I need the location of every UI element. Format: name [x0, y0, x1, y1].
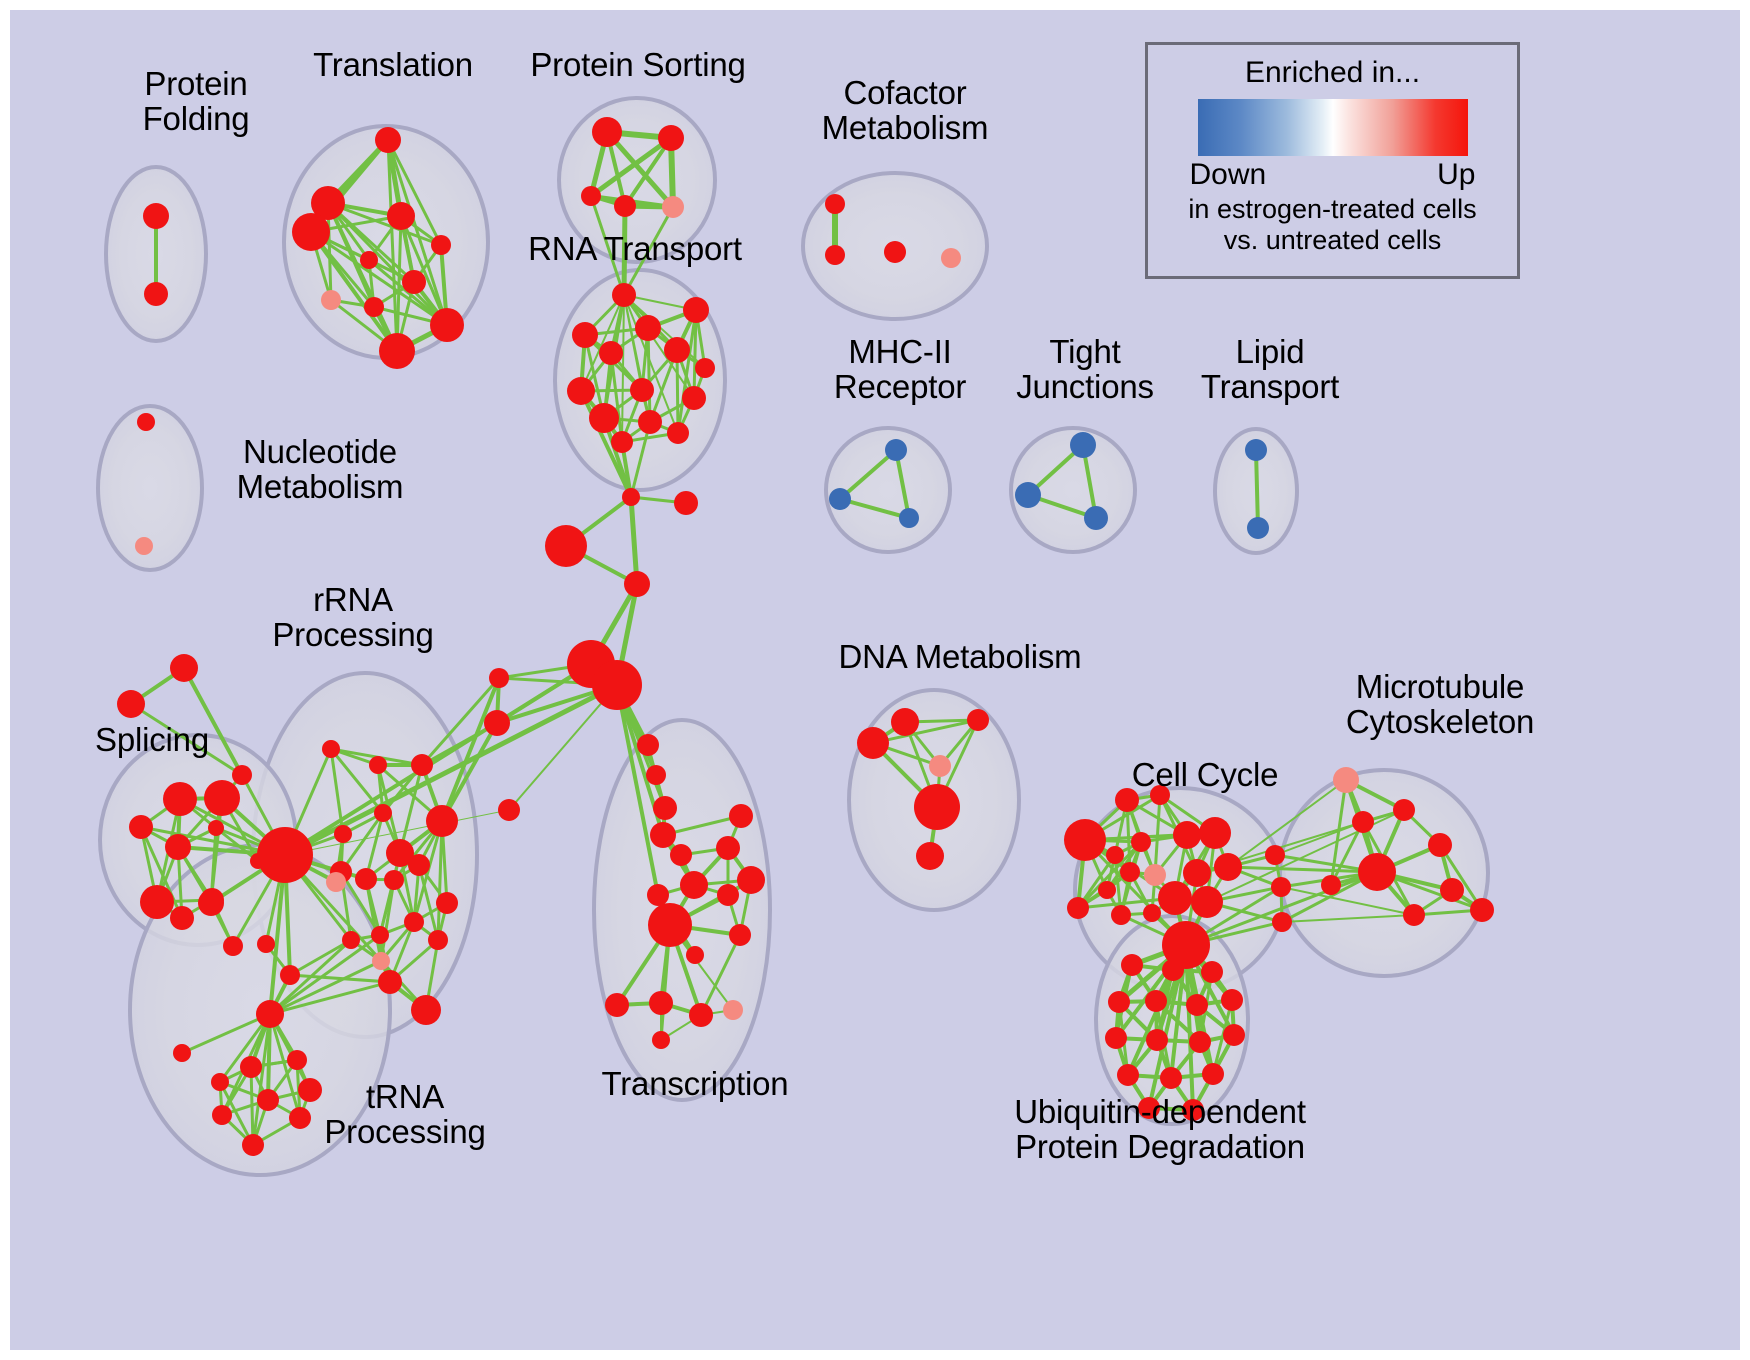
network-node[interactable] [670, 844, 692, 866]
network-node[interactable] [256, 1000, 284, 1028]
cluster-label-cell_cycle: Cell Cycle [1110, 758, 1300, 793]
network-edge [1256, 450, 1258, 528]
network-node[interactable] [658, 125, 684, 151]
network-node[interactable] [624, 571, 650, 597]
network-node[interactable] [967, 709, 989, 731]
network-node[interactable] [1111, 905, 1131, 925]
network-node[interactable] [683, 297, 709, 323]
network-node[interactable] [929, 755, 951, 777]
network-node[interactable] [729, 804, 753, 828]
network-node[interactable] [287, 1050, 307, 1070]
cluster-label-microtubule_cytoskeleton: Microtubule Cytoskeleton [1300, 670, 1580, 740]
network-node[interactable] [1146, 1029, 1168, 1051]
network-node[interactable] [411, 754, 433, 776]
network-node[interactable] [280, 965, 300, 985]
network-node[interactable] [1352, 811, 1374, 833]
network-node[interactable] [292, 213, 330, 251]
network-node[interactable] [581, 186, 601, 206]
network-node[interactable] [1393, 799, 1415, 821]
cluster-label-mhc_ii_receptor: MHC-II Receptor [805, 335, 995, 405]
network-node[interactable] [1173, 821, 1201, 849]
cluster-label-dna_metabolism: DNA Metabolism [820, 640, 1100, 675]
network-node[interactable] [334, 825, 352, 843]
network-node[interactable] [1265, 845, 1285, 865]
network-node[interactable] [1131, 832, 1151, 852]
network-node[interactable] [1070, 432, 1096, 458]
network-node[interactable] [1221, 989, 1243, 1011]
network-node[interactable] [436, 892, 458, 914]
network-node[interactable] [1189, 1031, 1211, 1053]
network-node[interactable] [680, 871, 708, 899]
network-node[interactable] [884, 241, 906, 263]
network-node[interactable] [1158, 881, 1192, 915]
legend-high-label: Up [1437, 158, 1475, 192]
network-node[interactable] [1117, 1064, 1139, 1086]
network-node[interactable] [1403, 904, 1425, 926]
network-edge [631, 497, 637, 584]
network-node[interactable] [321, 290, 341, 310]
network-node[interactable] [612, 283, 636, 307]
network-node[interactable] [144, 282, 168, 306]
network-node[interactable] [257, 827, 313, 883]
network-node[interactable] [404, 912, 424, 932]
network-node[interactable] [1183, 859, 1211, 887]
network-node[interactable] [1162, 959, 1184, 981]
network-node[interactable] [431, 235, 451, 255]
network-node[interactable] [630, 378, 654, 402]
network-node[interactable] [649, 991, 673, 1015]
network-node[interactable] [211, 1073, 229, 1091]
network-node[interactable] [605, 993, 629, 1017]
network-node[interactable] [1321, 875, 1341, 895]
network-node[interactable] [941, 248, 961, 268]
network-node[interactable] [137, 413, 155, 431]
network-node[interactable] [1098, 881, 1116, 899]
network-node[interactable] [689, 1003, 713, 1027]
network-node[interactable] [716, 836, 740, 860]
network-node[interactable] [599, 341, 623, 365]
network-node[interactable] [723, 1000, 743, 1020]
network-node[interactable] [170, 654, 198, 682]
network-node[interactable] [667, 422, 689, 444]
network-node[interactable] [173, 1044, 191, 1062]
network-node[interactable] [360, 251, 378, 269]
network-node[interactable] [885, 439, 907, 461]
network-node[interactable] [1064, 819, 1106, 861]
network-node[interactable] [378, 970, 402, 994]
legend-box: Enriched in... Down Up in estrogen-treat… [1145, 42, 1520, 279]
network-node[interactable] [163, 782, 197, 816]
network-node[interactable] [326, 872, 346, 892]
network-node[interactable] [372, 952, 390, 970]
cluster-label-ubiquitin_degradation: Ubiquitin-dependent Protein Degradation [990, 1095, 1330, 1165]
network-node[interactable] [916, 842, 944, 870]
network-node[interactable] [829, 488, 851, 510]
cluster-label-rna_transport: RNA Transport [500, 232, 770, 267]
network-node[interactable] [1201, 961, 1223, 983]
cluster-label-lipid_transport: Lipid Transport [1180, 335, 1360, 405]
network-node[interactable] [387, 202, 415, 230]
legend-caption-line2: vs. untreated cells [1224, 225, 1442, 256]
network-node[interactable] [1145, 990, 1167, 1012]
network-node[interactable] [1143, 904, 1161, 922]
network-node[interactable] [664, 337, 690, 363]
network-edge [648, 328, 650, 422]
network-node[interactable] [428, 930, 448, 950]
network-node[interactable] [384, 870, 404, 890]
network-node[interactable] [129, 815, 153, 839]
network-node[interactable] [717, 884, 739, 906]
cluster-label-transcription: Transcription [575, 1067, 815, 1102]
cluster-label-rrna_processing: rRNA Processing [253, 583, 453, 653]
network-node[interactable] [686, 946, 704, 964]
network-node[interactable] [652, 1031, 670, 1049]
network-node[interactable] [484, 710, 510, 736]
network-node[interactable] [622, 488, 640, 506]
network-node[interactable] [611, 431, 633, 453]
network-node[interactable] [899, 508, 919, 528]
cluster-label-nucleotide_metabolism: Nucleotide Metabolism [200, 435, 440, 505]
network-node[interactable] [117, 690, 145, 718]
network-node[interactable] [232, 765, 252, 785]
network-node[interactable] [674, 491, 698, 515]
network-node[interactable] [737, 866, 765, 894]
network-node[interactable] [411, 995, 441, 1025]
network-node[interactable] [592, 660, 642, 710]
network-node[interactable] [1084, 506, 1108, 530]
network-node[interactable] [1440, 878, 1464, 902]
network-node[interactable] [914, 784, 960, 830]
cluster-label-translation: Translation [293, 48, 493, 83]
network-node[interactable] [638, 410, 662, 434]
network-node[interactable] [322, 740, 340, 758]
legend-title: Enriched in... [1245, 56, 1420, 90]
network-node[interactable] [379, 333, 415, 369]
network-node[interactable] [430, 308, 464, 342]
network-node[interactable] [1015, 482, 1041, 508]
network-node[interactable] [408, 854, 430, 876]
legend-colorbar [1198, 99, 1468, 156]
network-node[interactable] [662, 196, 684, 218]
cluster-label-cofactor_metabolism: Cofactor Metabolism [790, 76, 1020, 146]
network-node[interactable] [200, 888, 224, 912]
network-node[interactable] [682, 386, 706, 410]
network-node[interactable] [729, 924, 751, 946]
cluster-label-protein_folding: Protein Folding [96, 67, 296, 137]
network-node[interactable] [369, 756, 387, 774]
network-node[interactable] [355, 868, 377, 890]
network-node[interactable] [1358, 853, 1396, 891]
network-node[interactable] [589, 403, 619, 433]
cluster-label-tight_junctions: Tight Junctions [995, 335, 1175, 405]
network-node[interactable] [498, 799, 520, 821]
network-node[interactable] [648, 903, 692, 947]
network-node[interactable] [1470, 898, 1494, 922]
legend-low-label: Down [1190, 158, 1267, 192]
network-node[interactable] [825, 245, 845, 265]
network-node[interactable] [1223, 1024, 1245, 1046]
network-node[interactable] [825, 194, 845, 214]
network-node[interactable] [212, 1105, 232, 1125]
network-node[interactable] [257, 1089, 279, 1111]
network-node[interactable] [223, 936, 243, 956]
network-node[interactable] [1108, 991, 1130, 1013]
network-node[interactable] [140, 885, 174, 919]
network-node[interactable] [1202, 1063, 1224, 1085]
network-node[interactable] [635, 315, 661, 341]
network-node[interactable] [572, 322, 598, 348]
network-node[interactable] [1144, 864, 1166, 886]
network-node[interactable] [614, 195, 636, 217]
network-node[interactable] [1245, 439, 1267, 461]
network-node[interactable] [135, 537, 153, 555]
network-node[interactable] [402, 270, 426, 294]
network-node[interactable] [371, 926, 389, 944]
network-node[interactable] [1428, 833, 1452, 857]
network-node[interactable] [257, 935, 275, 953]
network-node[interactable] [695, 358, 715, 378]
network-node[interactable] [364, 297, 384, 317]
network-node[interactable] [170, 906, 194, 930]
network-node[interactable] [647, 884, 669, 906]
network-node[interactable] [242, 1134, 264, 1156]
cluster-label-trna_processing: tRNA Processing [305, 1080, 505, 1150]
network-node[interactable] [545, 525, 587, 567]
network-node[interactable] [1272, 912, 1292, 932]
network-node[interactable] [489, 668, 509, 688]
network-node[interactable] [1106, 846, 1124, 864]
legend-caption-line1: in estrogen-treated cells [1188, 194, 1476, 225]
network-node[interactable] [342, 931, 360, 949]
network-node[interactable] [1247, 517, 1269, 539]
network-node[interactable] [1105, 1027, 1127, 1049]
network-node[interactable] [143, 203, 169, 229]
network-node[interactable] [650, 822, 676, 848]
figure-panel: Protein FoldingTranslationProtein Sortin… [10, 10, 1740, 1350]
network-node[interactable] [204, 780, 240, 816]
network-node[interactable] [1333, 767, 1359, 793]
network-node[interactable] [1067, 897, 1089, 919]
network-node[interactable] [567, 377, 595, 405]
network-node[interactable] [1199, 817, 1231, 849]
network-node[interactable] [240, 1056, 262, 1078]
network-node[interactable] [1271, 877, 1291, 897]
network-node[interactable] [375, 127, 401, 153]
network-node[interactable] [1120, 862, 1140, 882]
network-node[interactable] [637, 734, 659, 756]
network-node[interactable] [1121, 954, 1143, 976]
network-node[interactable] [857, 727, 889, 759]
network-node[interactable] [1160, 1067, 1182, 1089]
network-node[interactable] [208, 820, 224, 836]
network-node[interactable] [1191, 886, 1223, 918]
network-node[interactable] [1186, 994, 1208, 1016]
network-figure: Protein FoldingTranslationProtein Sortin… [0, 0, 1750, 1360]
network-node[interactable] [646, 765, 666, 785]
network-node[interactable] [891, 708, 919, 736]
cluster-label-splicing: Splicing [67, 723, 237, 758]
network-node[interactable] [374, 804, 392, 822]
network-node[interactable] [653, 796, 677, 820]
network-node[interactable] [165, 834, 191, 860]
network-node[interactable] [426, 805, 458, 837]
network-node[interactable] [1214, 853, 1242, 881]
network-node[interactable] [592, 117, 622, 147]
cluster-label-protein_sorting: Protein Sorting [508, 48, 768, 83]
